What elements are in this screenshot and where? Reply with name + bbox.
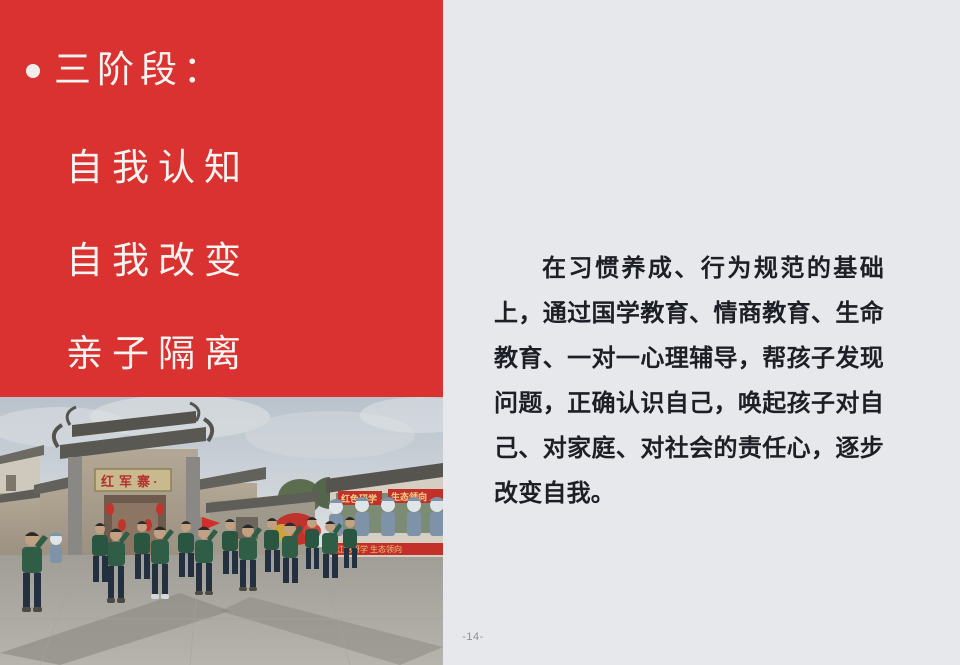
photo-illustration: 红 军 寨 · [0, 397, 443, 665]
svg-text:寨: 寨 [136, 474, 150, 489]
heading-title: 三阶段： [54, 52, 226, 89]
heading-bullet-row: 三阶段： [26, 52, 226, 89]
heading-block: 三阶段： 自我认知 自我改变 亲子隔离 [0, 0, 443, 397]
heading-subline-self-awareness: 自我认知 [66, 150, 250, 187]
slide-canvas: 三阶段： 自我认知 自我改变 亲子隔离 [0, 0, 960, 665]
body-text-block: 在习惯养成、行为规范的基础上，通过国学教育、情商教育、生命教育、一对一心理辅导，… [494, 247, 884, 517]
body-paragraph: 在习惯养成、行为规范的基础上，通过国学教育、情商教育、生命教育、一对一心理辅导，… [494, 247, 884, 517]
red-heading-panel: 三阶段： 自我认知 自我改变 亲子隔离 [0, 0, 443, 397]
heading-subline-self-change: 自我改变 [66, 243, 250, 280]
heading-subline-parent-child-separation: 亲子隔离 [66, 336, 250, 373]
svg-text:红: 红 [101, 474, 114, 489]
svg-text:军: 军 [119, 474, 132, 489]
bullet-dot-icon [26, 64, 40, 78]
photo-students-saluting: 红 军 寨 · [0, 397, 443, 665]
svg-text:·: · [153, 474, 157, 489]
page-number: -14- [443, 631, 503, 643]
